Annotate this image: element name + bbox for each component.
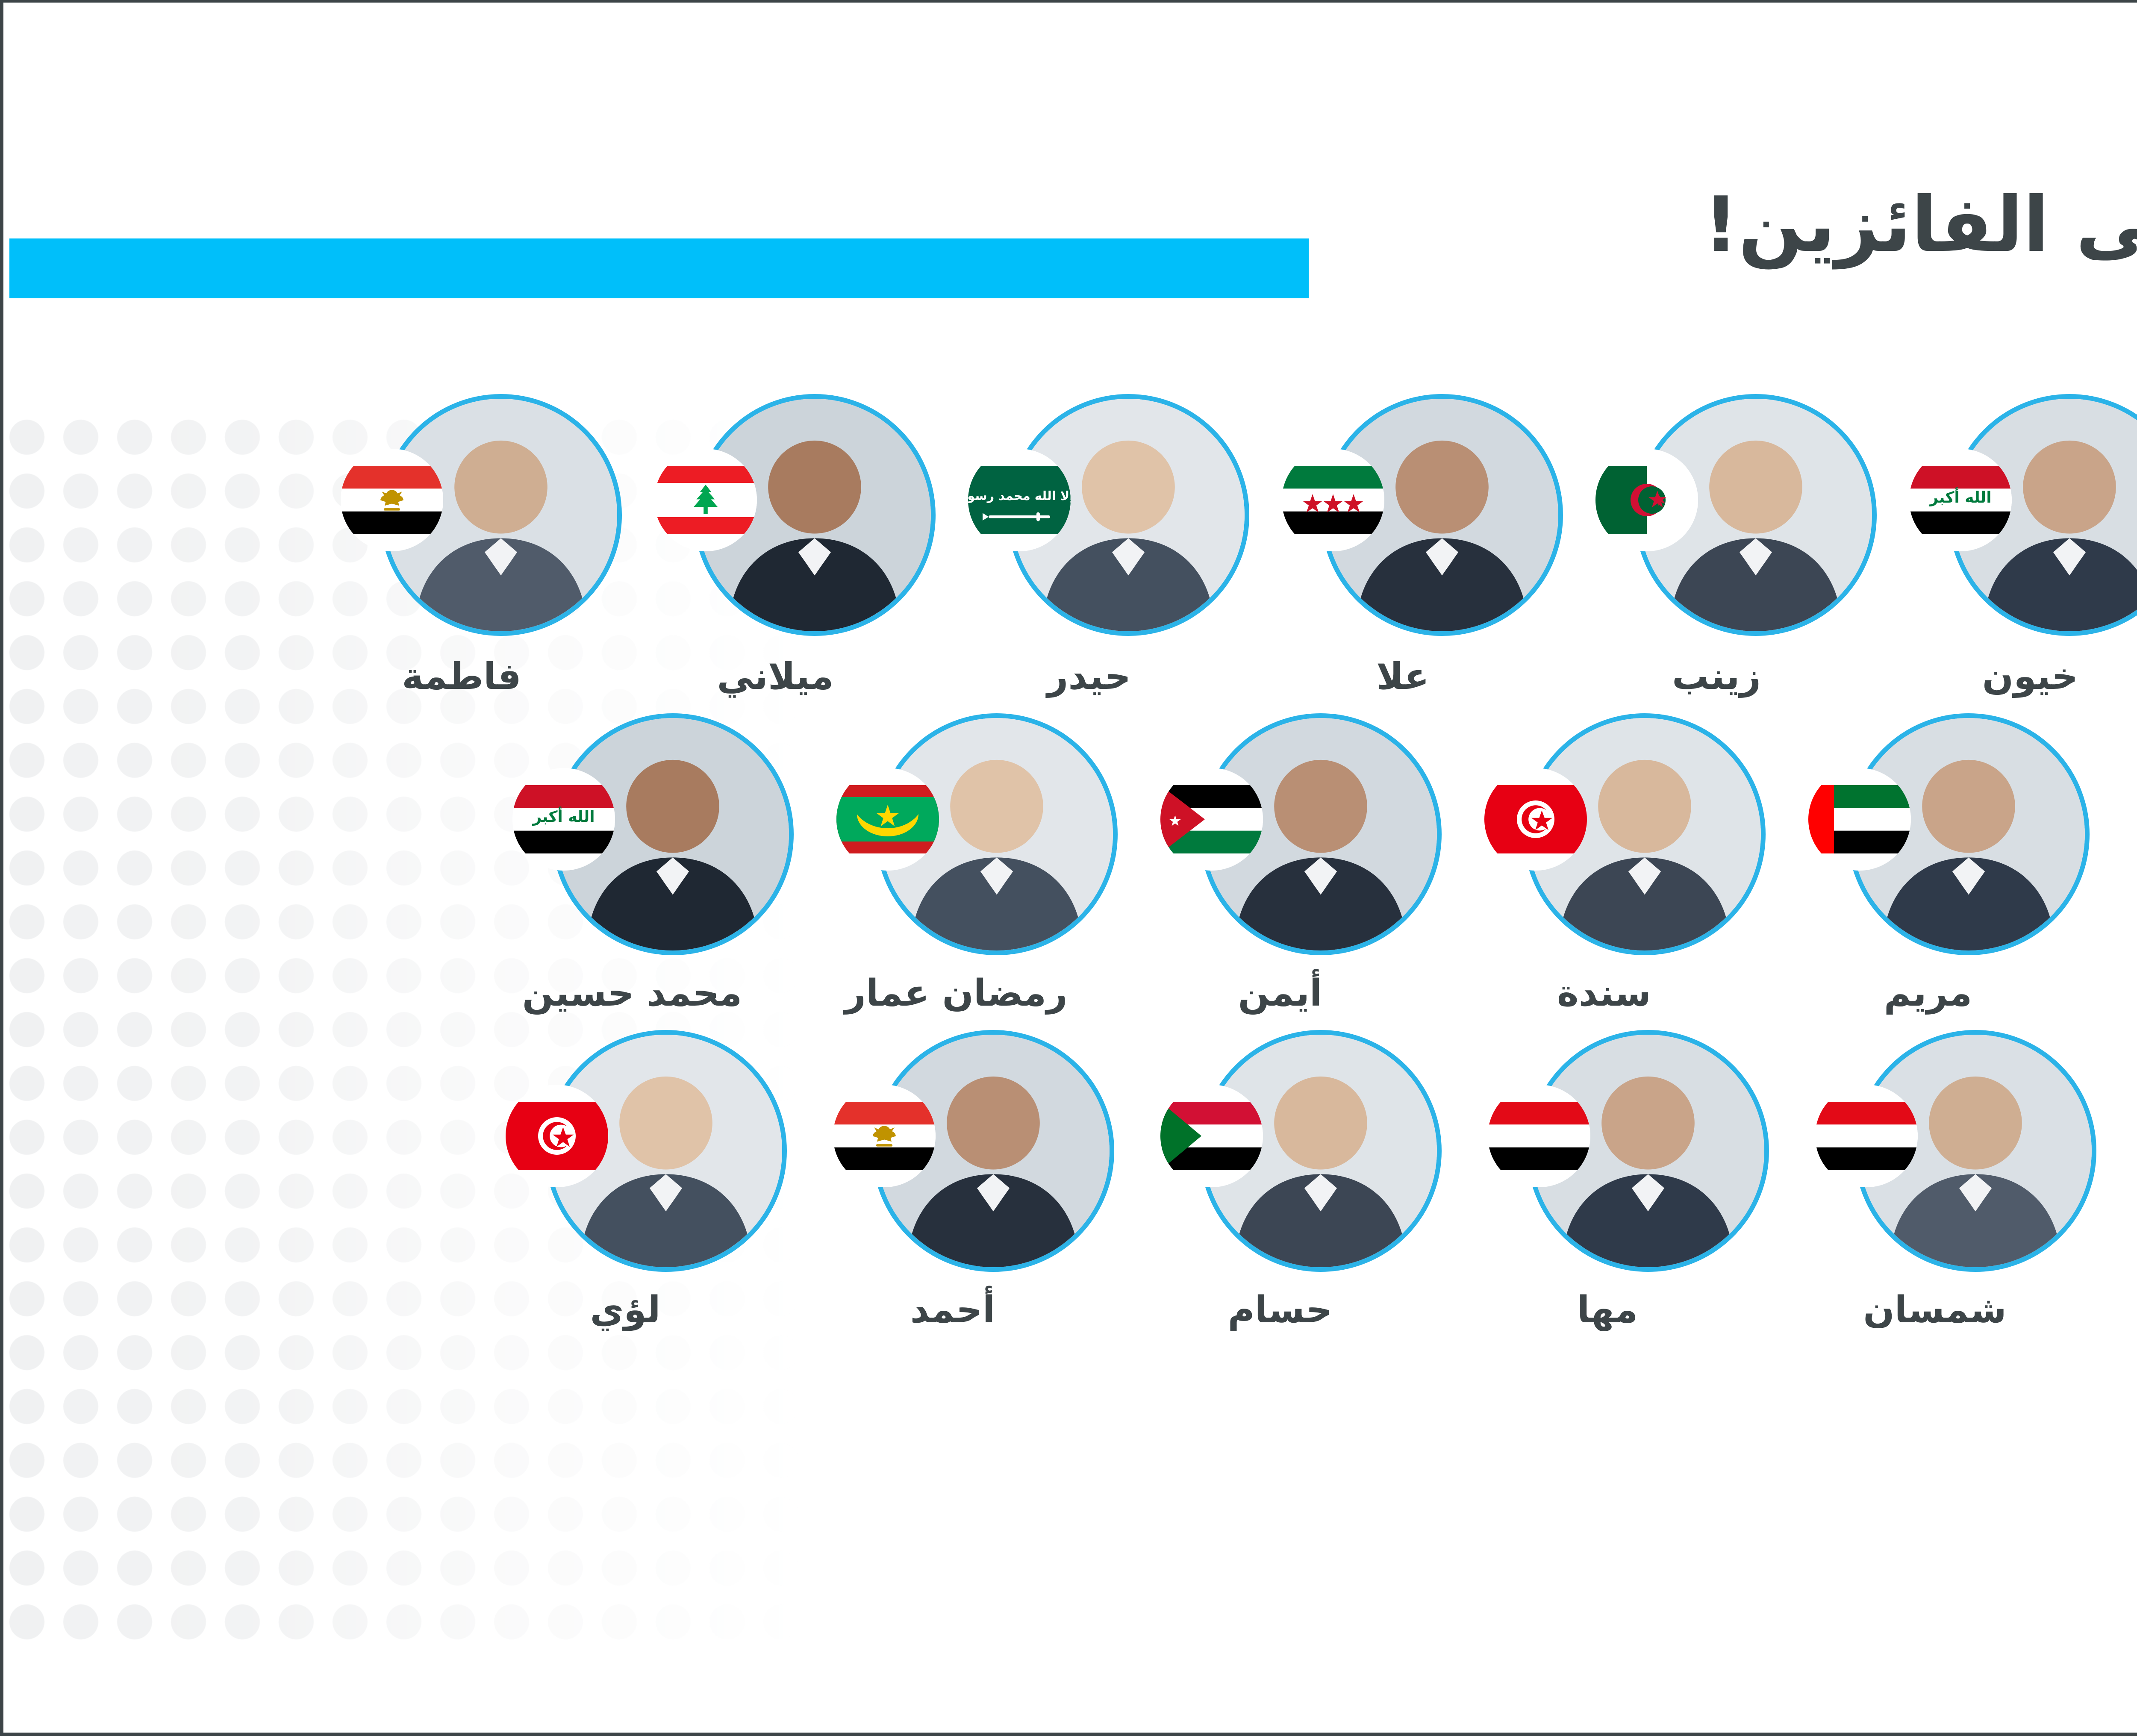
avatar-wrap <box>341 394 583 636</box>
page-border-left <box>0 0 3 1736</box>
svg-text:الله أكبر: الله أكبر <box>532 806 595 826</box>
winner-card[interactable]: حسام <box>1143 1030 1417 1332</box>
sudan-flag-icon <box>1160 1085 1263 1187</box>
winner-name: مها <box>1577 1288 1638 1332</box>
winner-card[interactable]: شمسان <box>1798 1030 2072 1332</box>
winner-card[interactable]: الله أكبر خيون <box>1893 394 2137 699</box>
winner-name: زينب <box>1672 655 1761 699</box>
avatar-wrap <box>836 713 1076 953</box>
avatar-wrap <box>1160 713 1400 953</box>
winner-name: أحمد <box>910 1288 995 1332</box>
egypt-flag-icon <box>833 1085 936 1187</box>
winner-name: لؤي <box>590 1288 660 1332</box>
winner-name: فاطمة <box>402 655 521 699</box>
winner-card[interactable]: أحمد <box>816 1030 1089 1332</box>
syria-flag-icon <box>1282 449 1384 551</box>
winner-name: علا <box>1376 655 1429 699</box>
avatar-wrap <box>506 1030 745 1269</box>
winner-name: حسام <box>1228 1288 1333 1332</box>
mauritania-flag-icon <box>836 768 939 871</box>
winners-row-1: الله أكبر خيون زينب علا <box>0 394 2137 699</box>
avatar-wrap: الله أكبر <box>1909 394 2137 636</box>
iraq-flag-icon: الله أكبر <box>1909 449 2012 551</box>
avatar-wrap <box>1282 394 1524 636</box>
uae-flag-icon <box>1808 768 1911 871</box>
svg-text:لا إله إلا الله محمد رسول الله: لا إله إلا الله محمد رسول الله <box>968 488 1071 503</box>
winners-grid: الله أكبر خيون زينب علا <box>0 394 2137 1333</box>
winner-card[interactable]: مها <box>1471 1030 1744 1332</box>
winner-card[interactable]: الله أكبر محمد حسين <box>495 713 769 1015</box>
yemen-flag-icon <box>1815 1085 1918 1187</box>
winner-card[interactable]: أيمن <box>1143 713 1417 1015</box>
winner-card[interactable]: علا <box>1266 394 1539 699</box>
avatar-wrap <box>654 394 896 636</box>
winner-card[interactable]: ميلاني <box>639 394 912 699</box>
winner-name: رمضان عمار <box>845 971 1067 1015</box>
winner-name: سندة <box>1557 971 1651 1015</box>
winner-name: أيمن <box>1238 971 1322 1015</box>
page-border-bottom <box>0 1733 2137 1736</box>
avatar-wrap: الله أكبر <box>512 713 752 953</box>
winner-card[interactable]: سندة <box>1467 713 1741 1015</box>
winner-name: ميلاني <box>717 655 834 699</box>
winner-name: محمد حسين <box>522 971 742 1015</box>
avatar-wrap: لا إله إلا الله محمد رسول الله <box>968 394 1210 636</box>
winners-row-3: شمسان مها حسام أح <box>0 1030 2137 1332</box>
iraq-flag-icon: الله أكبر <box>512 768 615 871</box>
yemen-flag-icon <box>1488 1085 1590 1187</box>
avatar-wrap <box>833 1030 1072 1269</box>
winner-card[interactable]: لؤي <box>489 1030 762 1332</box>
header-accent-bar <box>9 238 1309 298</box>
tunisia-flag-icon <box>506 1085 608 1187</box>
avatar-wrap <box>1484 713 1724 953</box>
jordan-flag-icon <box>1160 768 1263 871</box>
winner-card[interactable]: فاطمة <box>325 394 598 699</box>
tunisia-flag-icon <box>1484 768 1587 871</box>
avatar-wrap <box>1160 1030 1400 1269</box>
egypt-flag-icon <box>341 449 443 551</box>
avatar-wrap <box>1595 394 1837 636</box>
lebanon-flag-icon <box>654 449 757 551</box>
page-header: تعرفوا على الفائزين! <box>0 0 2137 385</box>
winners-row-2: مريم سندة أيمن رمضان <box>0 713 2137 1015</box>
page-title: تعرفوا على الفائزين! <box>1704 183 2137 267</box>
winner-card[interactable]: زينب <box>1580 394 1853 699</box>
winner-name: مريم <box>1884 971 1972 1015</box>
winner-name: شمسان <box>1863 1288 2006 1332</box>
winner-card[interactable]: مريم <box>1791 713 2065 1015</box>
svg-text:الله أكبر: الله أكبر <box>1928 487 1991 506</box>
algeria-flag-icon <box>1595 449 1698 551</box>
avatar-wrap <box>1815 1030 2055 1269</box>
winner-name: خيون <box>1982 655 2078 699</box>
saudi-arabia-flag-icon: لا إله إلا الله محمد رسول الله <box>968 449 1071 551</box>
winner-card[interactable]: لا إله إلا الله محمد رسول الله حيدر <box>952 394 1226 699</box>
page-border-top <box>0 0 2137 3</box>
winner-name: حيدر <box>1047 655 1131 699</box>
winner-card[interactable]: رمضان عمار <box>819 713 1093 1015</box>
avatar-wrap <box>1488 1030 1727 1269</box>
avatar-wrap <box>1808 713 2048 953</box>
